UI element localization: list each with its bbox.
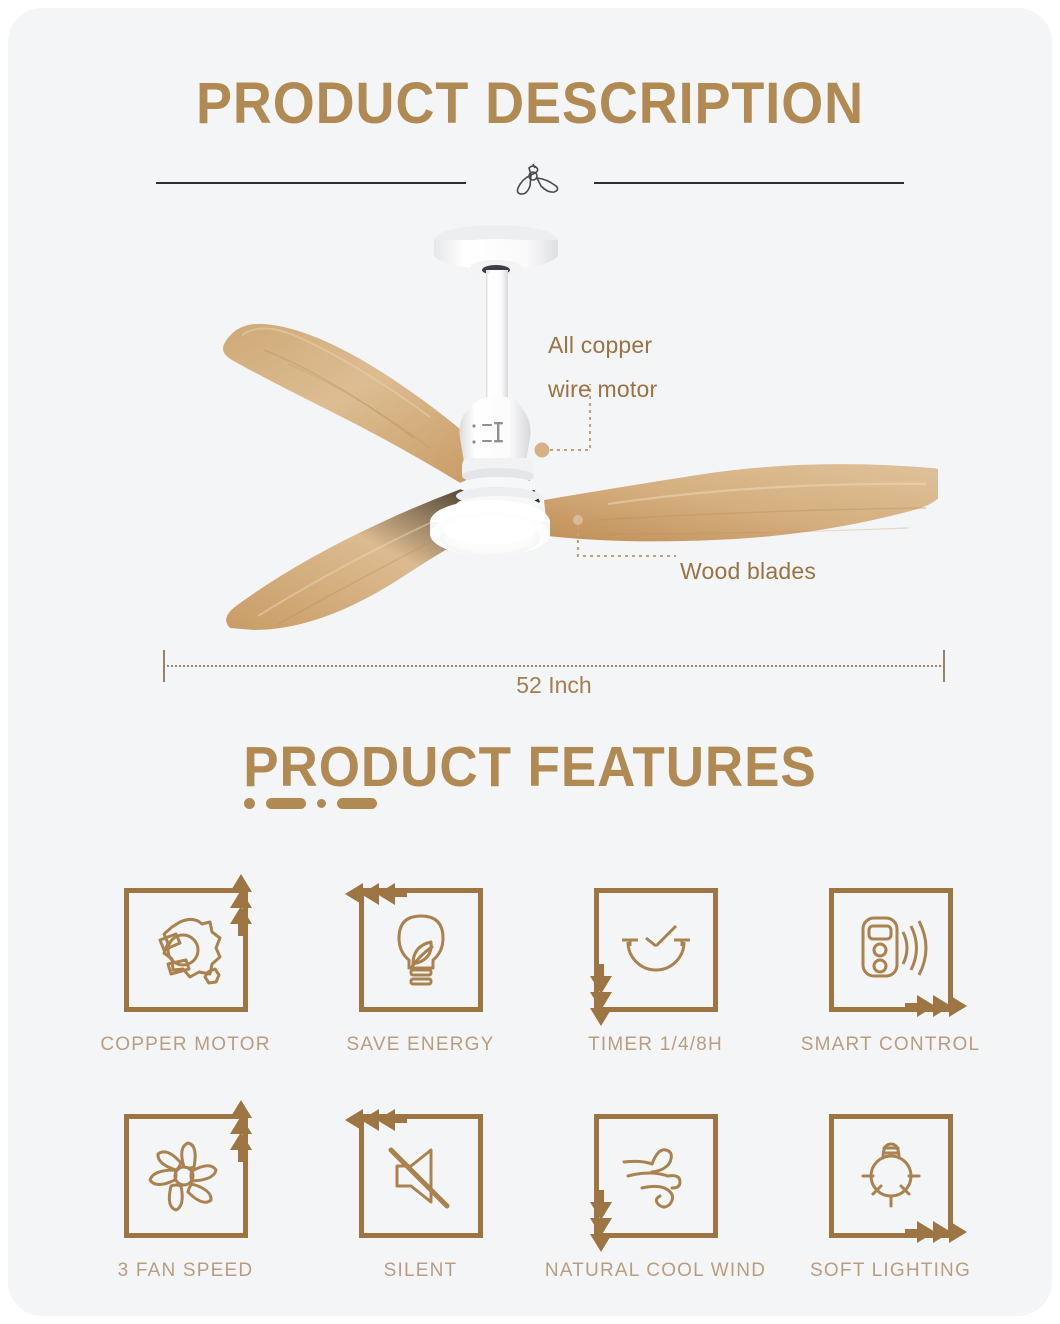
arrow-down-indicator bbox=[586, 964, 616, 1026]
feature-label: SOFT LIGHTING bbox=[810, 1260, 971, 1282]
dash-bar-1 bbox=[266, 798, 306, 809]
wind-swirl-icon bbox=[594, 1114, 718, 1238]
feature-label: COPPER MOTOR bbox=[100, 1034, 270, 1056]
feature-label: 3 FAN SPEED bbox=[118, 1260, 254, 1282]
dimension-bar bbox=[163, 665, 945, 667]
arrow-right-indicator bbox=[905, 1217, 967, 1247]
bulb-leaf-icon bbox=[359, 888, 483, 1012]
page-title-description: PRODUCT DESCRIPTION bbox=[45, 70, 1016, 137]
feature-label: TIMER 1/4/8H bbox=[588, 1034, 723, 1056]
dash-bar-2 bbox=[337, 798, 377, 809]
dimension-line: 52 Inch bbox=[163, 640, 945, 696]
mute-speaker-icon bbox=[359, 1114, 483, 1238]
feature-label: SAVE ENERGY bbox=[347, 1034, 495, 1056]
title-dash-decoration bbox=[244, 798, 377, 809]
fan-blades-icon bbox=[124, 1114, 248, 1238]
features-row-1: COPPER MOTOR bbox=[68, 888, 1008, 1056]
arrow-up-indicator bbox=[226, 874, 256, 936]
product-card: PRODUCT DESCRIPTION bbox=[8, 8, 1052, 1316]
annotation-motor-line2: wire motor bbox=[548, 376, 657, 403]
annotation-motor-line1: All copper bbox=[548, 332, 652, 359]
bulb-rays-icon bbox=[829, 1114, 953, 1238]
dash-dot-2 bbox=[317, 799, 326, 808]
features-row-2: 3 FAN SPEED bbox=[68, 1114, 1008, 1282]
page-title-features: PRODUCT FEATURES bbox=[45, 734, 1016, 800]
features-grid: COPPER MOTOR bbox=[68, 888, 1008, 1282]
feature-smart-control: SMART CONTROL bbox=[773, 888, 1008, 1056]
arrow-up-indicator bbox=[226, 1100, 256, 1162]
feature-soft-lighting: SOFT LIGHTING bbox=[773, 1114, 1008, 1282]
divider-line-left bbox=[156, 182, 466, 184]
feature-fan-speed: 3 FAN SPEED bbox=[68, 1114, 303, 1282]
feature-timer: TIMER 1/4/8H bbox=[538, 888, 773, 1056]
gear-motor-icon bbox=[124, 888, 248, 1012]
arrow-left-indicator bbox=[345, 879, 407, 909]
arrow-down-indicator bbox=[586, 1190, 616, 1252]
feature-label: SILENT bbox=[384, 1260, 458, 1282]
feature-label: SMART CONTROL bbox=[801, 1034, 981, 1056]
arrow-left-indicator bbox=[345, 1105, 407, 1135]
feature-copper-motor: COPPER MOTOR bbox=[68, 888, 303, 1056]
feature-silent: SILENT bbox=[303, 1114, 538, 1282]
arrow-right-indicator bbox=[905, 991, 967, 1021]
remote-signal-icon bbox=[829, 888, 953, 1012]
feature-save-energy: SAVE ENERGY bbox=[303, 888, 538, 1056]
ceiling-fan-product-image bbox=[138, 204, 938, 634]
dash-dot-1 bbox=[244, 798, 255, 809]
timer-clock-icon bbox=[594, 888, 718, 1012]
title-divider bbox=[8, 168, 1052, 208]
dimension-label: 52 Inch bbox=[163, 672, 945, 699]
divider-line-right bbox=[594, 182, 904, 184]
feature-label: NATURAL COOL WIND bbox=[545, 1260, 766, 1282]
annotation-wood-blades: Wood blades bbox=[680, 558, 816, 585]
feature-cool-wind: NATURAL COOL WIND bbox=[538, 1114, 773, 1282]
